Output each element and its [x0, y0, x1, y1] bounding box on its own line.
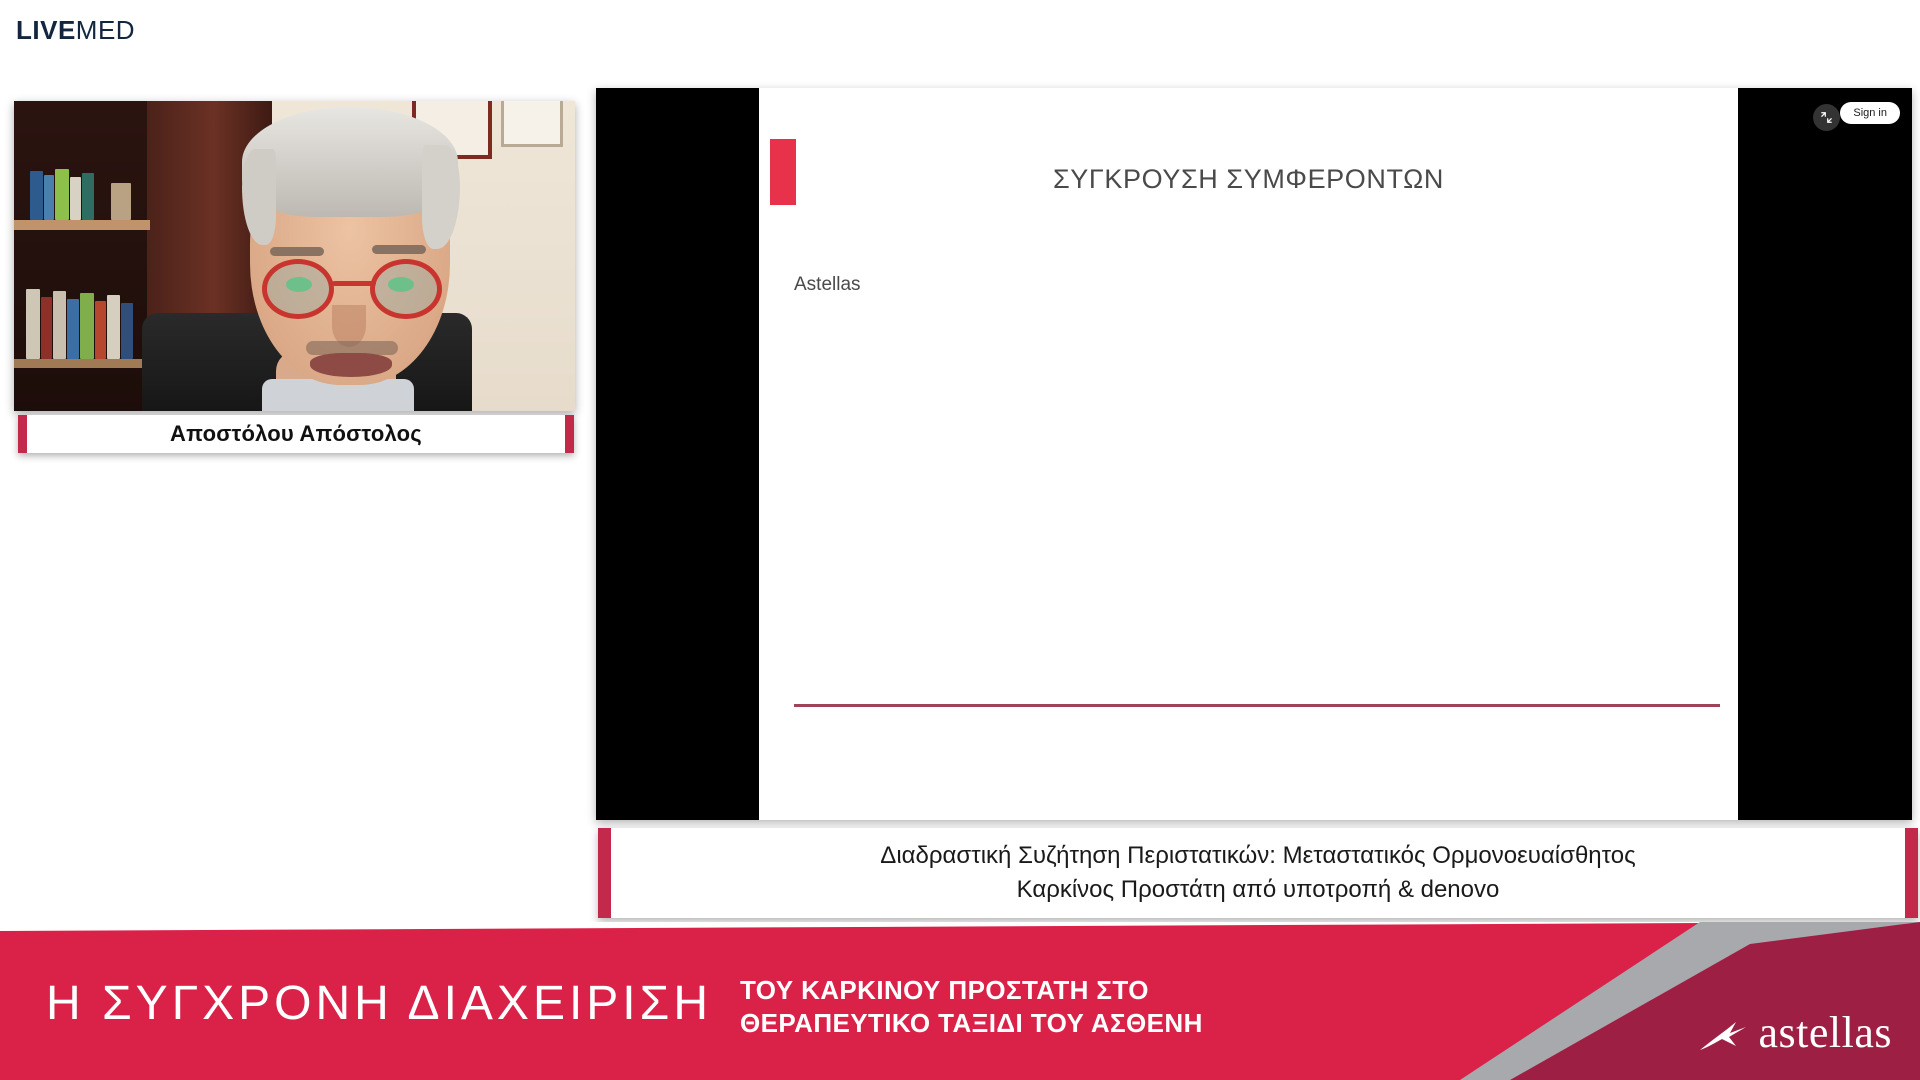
- banner-subtitle-line-2: ΘΕΡΑΠΕΥΤΙΚΟ ΤΑΞΙΔΙ ΤΟΥ ΑΣΘΕΝΗ: [740, 1008, 1203, 1038]
- shelf-board-lower: [14, 359, 150, 368]
- presentation-player[interactable]: ΣΥΓΚΡΟΥΣΗ ΣΥΜΦΕΡΟΝΤΩΝ Astellas Sign in: [596, 88, 1912, 820]
- book: [111, 183, 131, 220]
- book: [55, 169, 69, 220]
- shelf-board-upper: [14, 220, 150, 230]
- event-banner: Η ΣΥΓΧΡΟΝΗ ΔΙΑΧΕΙΡΙΣΗ ΤΟΥ ΚΑΡΚΙΝΟΥ ΠΡΟΣΤ…: [0, 922, 1920, 1080]
- session-title-line-2: Καρκίνος Προστάτη από υποτροπή & denovo: [1017, 876, 1500, 903]
- book: [26, 289, 40, 359]
- banner-subtitle: ΤΟΥ ΚΑΡΚΙΝΟΥ ΠΡΟΣΤΑΤΗ ΣΤΟ ΘΕΡΑΠΕΥΤΙΚΟ ΤΑ…: [740, 974, 1203, 1039]
- presentation-slide: ΣΥΓΚΡΟΥΣΗ ΣΥΜΦΕΡΟΝΤΩΝ Astellas: [759, 88, 1738, 820]
- book: [80, 293, 94, 359]
- session-title-bar: Διαδραστική Συζήτηση Περιστατικών: Μετασ…: [598, 828, 1918, 918]
- name-plate-accent-left: [18, 415, 27, 453]
- book: [107, 295, 120, 359]
- expand-arrows-icon[interactable]: [1813, 104, 1840, 131]
- astellas-star-icon: [1696, 1010, 1754, 1056]
- session-bar-accent-right: [1905, 828, 1918, 918]
- book: [67, 299, 79, 359]
- slide-bottom-rule: [794, 704, 1720, 707]
- logo-live-text: LIVE: [16, 15, 76, 45]
- speaker-eye-right: [388, 277, 414, 292]
- slide-body-text: Astellas: [794, 274, 861, 296]
- speaker-name-label: Αποστόλου Απόστολος: [170, 421, 422, 447]
- session-title-text: Διαδραστική Συζήτηση Περιστατικών: Μετασ…: [850, 839, 1665, 907]
- sign-in-button[interactable]: Sign in: [1840, 102, 1900, 124]
- speaker-video-feed: [14, 101, 575, 411]
- banner-title: Η ΣΥΓΧΡΟΝΗ ΔΙΑΧΕΙΡΙΣΗ: [46, 976, 712, 1031]
- astellas-wordmark: astellas: [1758, 1007, 1892, 1058]
- name-plate-accent-right: [565, 415, 574, 453]
- speaker-eyebrow-right: [372, 245, 426, 254]
- book: [70, 177, 81, 220]
- slide-title: ΣΥΓΚΡΟΥΣΗ ΣΥΜΦΕΡΟΝΤΩΝ: [759, 164, 1738, 195]
- webinar-page: LIVEMED: [0, 0, 1920, 1080]
- logo-med-text: MED: [76, 15, 135, 45]
- book: [30, 171, 43, 220]
- banner-subtitle-line-1: ΤΟΥ ΚΑΡΚΙΝΟΥ ΠΡΟΣΤΑΤΗ ΣΤΟ: [740, 975, 1149, 1005]
- book: [53, 291, 66, 359]
- book: [95, 301, 106, 359]
- eyeglass-bridge: [332, 281, 376, 286]
- session-bar-accent-left: [598, 828, 611, 918]
- speaker-video-tile[interactable]: [14, 101, 575, 411]
- speaker-name-plate: Αποστόλου Απόστολος: [18, 415, 574, 453]
- livemed-logo: LIVEMED: [16, 15, 135, 46]
- wall-picture-frame-2: [501, 101, 563, 147]
- session-title-line-1: Διαδραστική Συζήτηση Περιστατικών: Μετασ…: [880, 842, 1635, 869]
- speaker-eyebrow-left: [270, 247, 324, 256]
- book: [41, 297, 52, 359]
- book: [44, 175, 54, 220]
- astellas-sponsor-logo: astellas: [1696, 1007, 1892, 1058]
- book: [121, 303, 133, 359]
- book: [82, 173, 94, 220]
- speaker-eye-left: [286, 277, 312, 292]
- speaker-mouth: [310, 353, 392, 377]
